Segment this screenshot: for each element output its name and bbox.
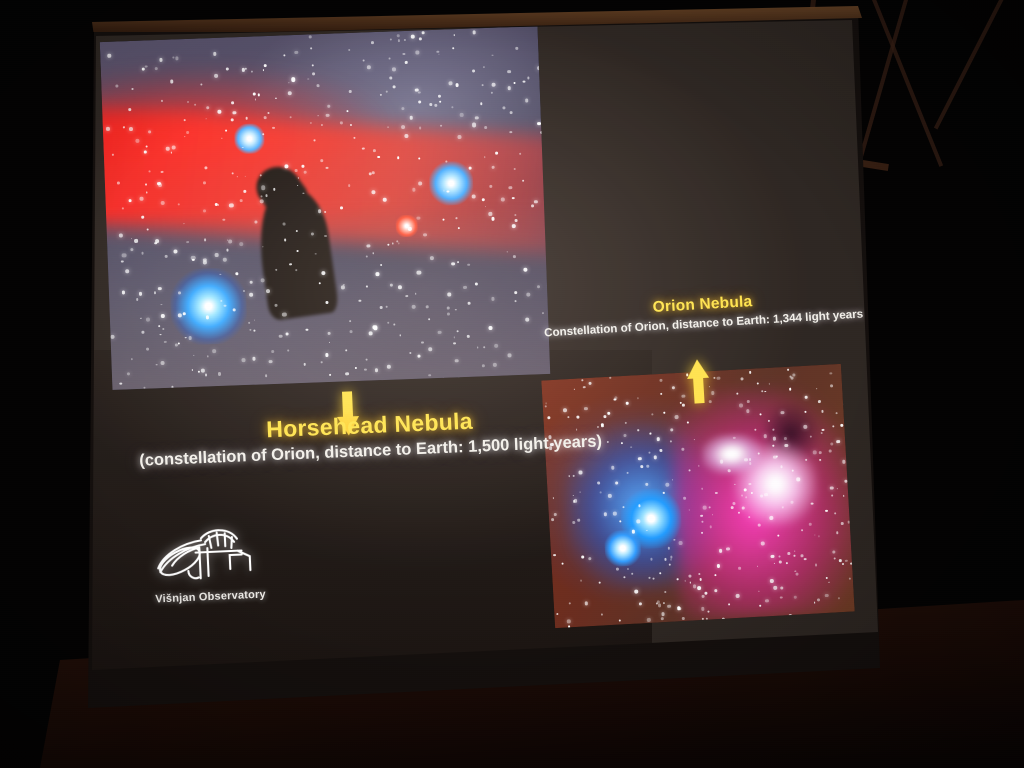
- orion-caption: Orion Nebula Constellation of Orion, dis…: [537, 286, 868, 340]
- observatory-logo: Višnjan Observatory: [132, 519, 286, 607]
- projected-slide: Horsehead Nebula (constellation of Orion…: [92, 20, 882, 692]
- red-star: [395, 215, 418, 238]
- blue-star: [429, 161, 475, 207]
- blue-star: [234, 123, 265, 154]
- blue-star: [604, 529, 642, 567]
- observatory-telescope-icon: [148, 519, 269, 586]
- bright-blue-star: [169, 267, 248, 346]
- horsehead-nebula-image: [100, 26, 550, 390]
- nebula-bright-knot: [701, 433, 763, 476]
- projection-screen-area: Horsehead Nebula (constellation of Orion…: [0, 0, 1024, 768]
- presentation-photo: Horsehead Nebula (constellation of Orion…: [0, 0, 1024, 768]
